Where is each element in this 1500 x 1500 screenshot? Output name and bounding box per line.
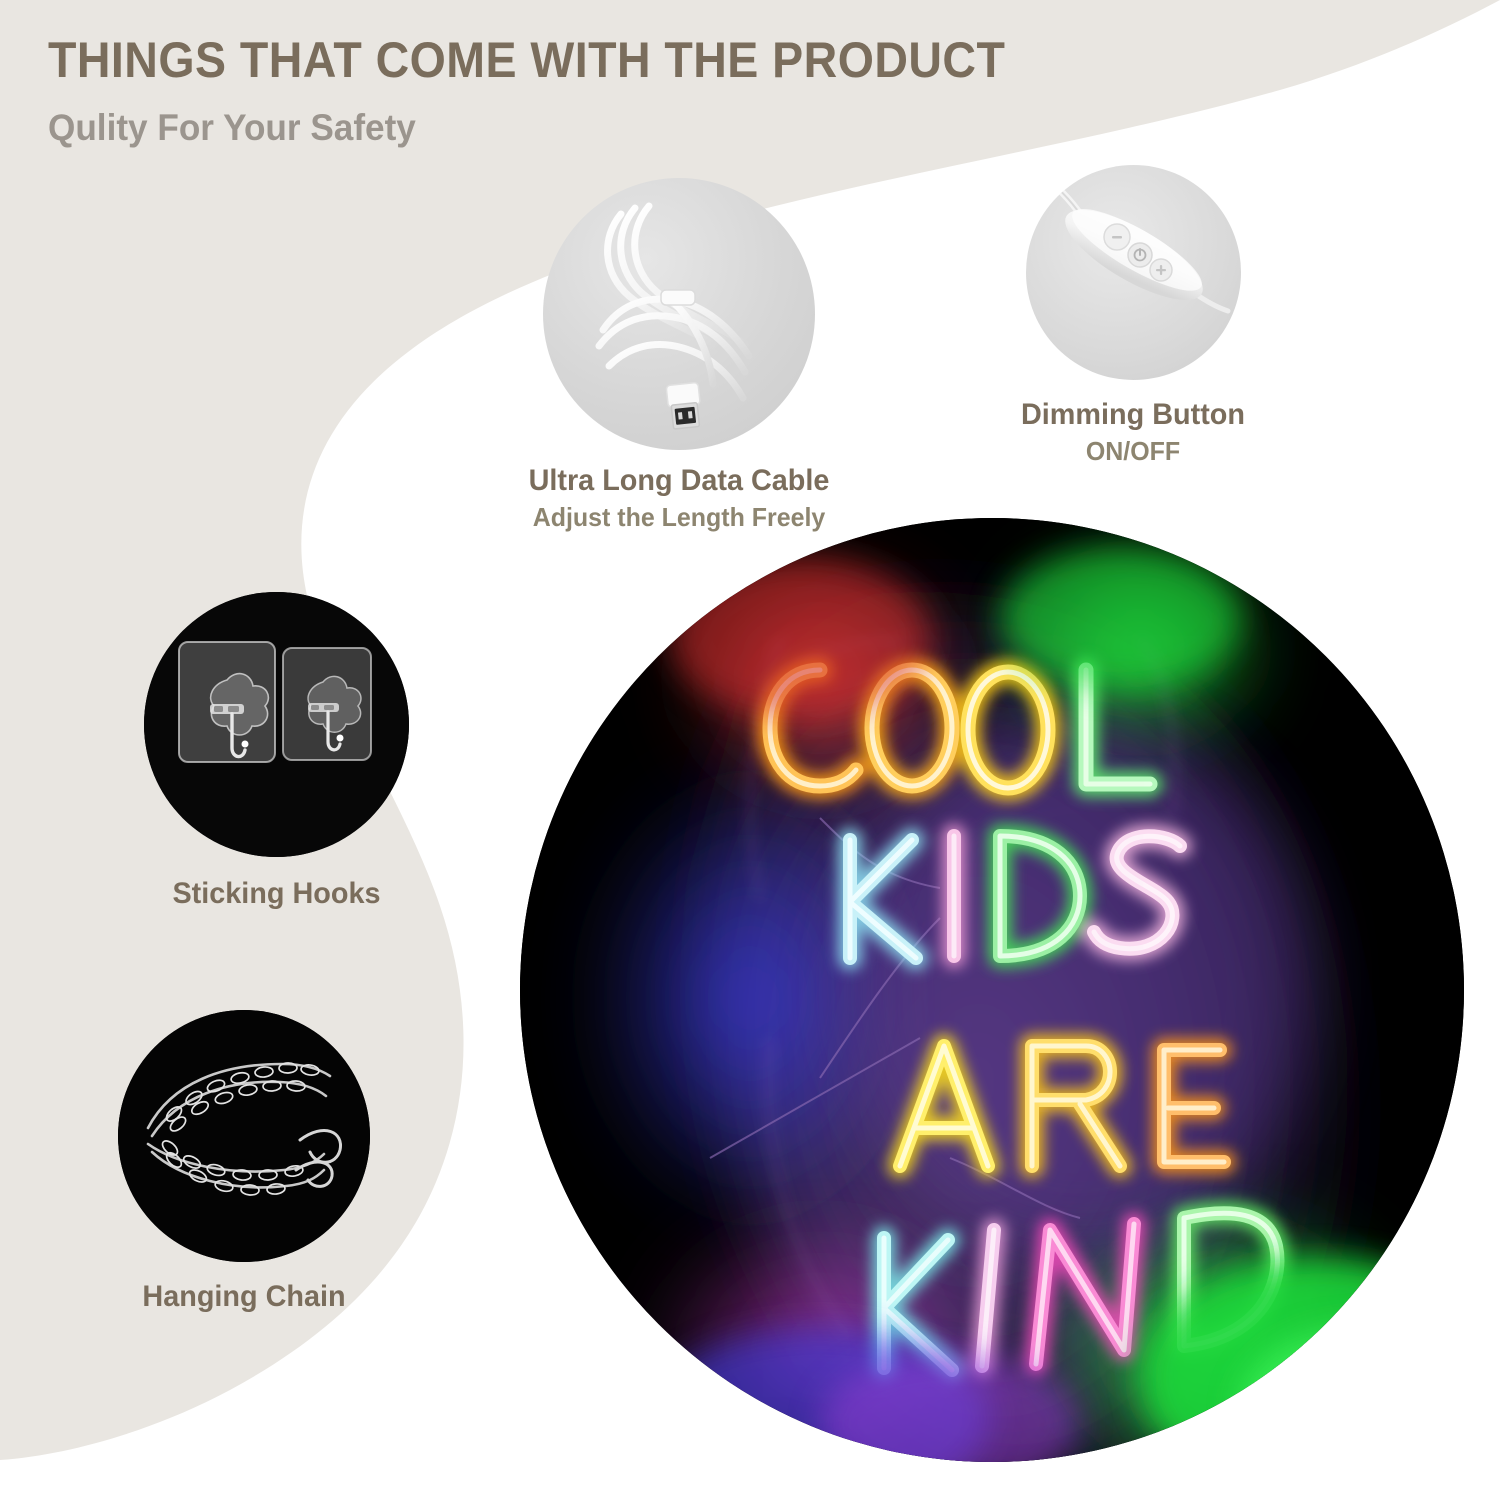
feature-data-cable: Ultra Long Data Cable Adjust the Length … [543, 178, 889, 533]
neon-sign-photo [520, 518, 1464, 1462]
dimmer-switch-icon [1026, 165, 1241, 380]
caption-title: Dimming Button [975, 398, 1292, 433]
caption-sticking-hooks: Sticking Hooks [109, 877, 444, 912]
caption-title: Ultra Long Data Cable [477, 464, 880, 499]
usb-cable-icon [543, 178, 815, 450]
feature-sticking-hooks: Sticking Hooks [144, 592, 444, 912]
page-subtitle: Qulity For Your Safety [48, 109, 1026, 148]
caption-title: Sticking Hooks [116, 877, 438, 912]
neon-sign-illustration [520, 518, 1464, 1462]
feature-dimming-button: Dimming Button ON/OFF [1026, 165, 1298, 467]
adhesive-hook-icon [144, 592, 409, 857]
page-title: THINGS THAT COME WITH THE PRODUCT [48, 34, 1005, 87]
caption-title: Hanging Chain [89, 1280, 398, 1315]
caption-hanging-chain: Hanging Chain [83, 1280, 405, 1315]
product-neon-sign [520, 518, 1464, 1462]
caption-dimming-button: Dimming Button ON/OFF [968, 398, 1298, 467]
infographic-canvas: THINGS THAT COME WITH THE PRODUCT Qulity… [0, 0, 1500, 1500]
header: THINGS THAT COME WITH THE PRODUCT Qulity… [48, 34, 1077, 148]
metal-chain-icon [118, 1010, 370, 1262]
caption-subtitle: ON/OFF [975, 436, 1292, 467]
feature-hanging-chain: Hanging Chain [118, 1010, 405, 1315]
